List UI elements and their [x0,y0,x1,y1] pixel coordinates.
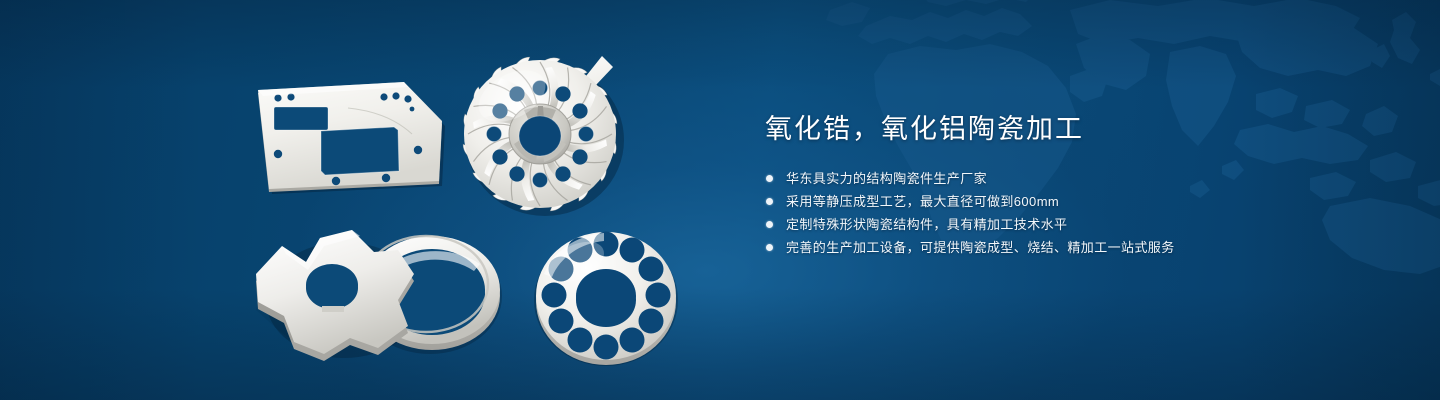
page-title: 氧化锆，氧化铝陶瓷加工 [765,112,1325,146]
list-item: 完善的生产加工设备，可提供陶瓷成型、烧结、精加工一站式服务 [765,236,1325,259]
ceramic-processing-banner: 氧化锆，氧化铝陶瓷加工 华东具实力的结构陶瓷件生产厂家 采用等静压成型工艺，最大… [0,0,1440,400]
list-item: 采用等静压成型工艺，最大直径可做到600mm [765,190,1325,213]
banner-copy: 氧化锆，氧化铝陶瓷加工 华东具实力的结构陶瓷件生产厂家 采用等静压成型工艺，最大… [765,112,1325,259]
list-item-label: 定制特殊形状陶瓷结构件，具有精加工技术水平 [786,217,1067,232]
bullet-dot-icon [766,221,773,228]
feature-list: 华东具实力的结构陶瓷件生产厂家 采用等静压成型工艺，最大直径可做到600mm 定… [765,167,1325,259]
list-item-label: 采用等静压成型工艺，最大直径可做到600mm [786,194,1059,209]
bullet-dot-icon [766,244,773,251]
list-item-label: 华东具实力的结构陶瓷件生产厂家 [786,171,987,186]
bullet-dot-icon [766,198,773,205]
list-item: 华东具实力的结构陶瓷件生产厂家 [765,167,1325,190]
list-item-label: 完善的生产加工设备，可提供陶瓷成型、烧结、精加工一站式服务 [786,240,1175,255]
list-item: 定制特殊形状陶瓷结构件，具有精加工技术水平 [765,213,1325,236]
bullet-dot-icon [766,175,773,182]
